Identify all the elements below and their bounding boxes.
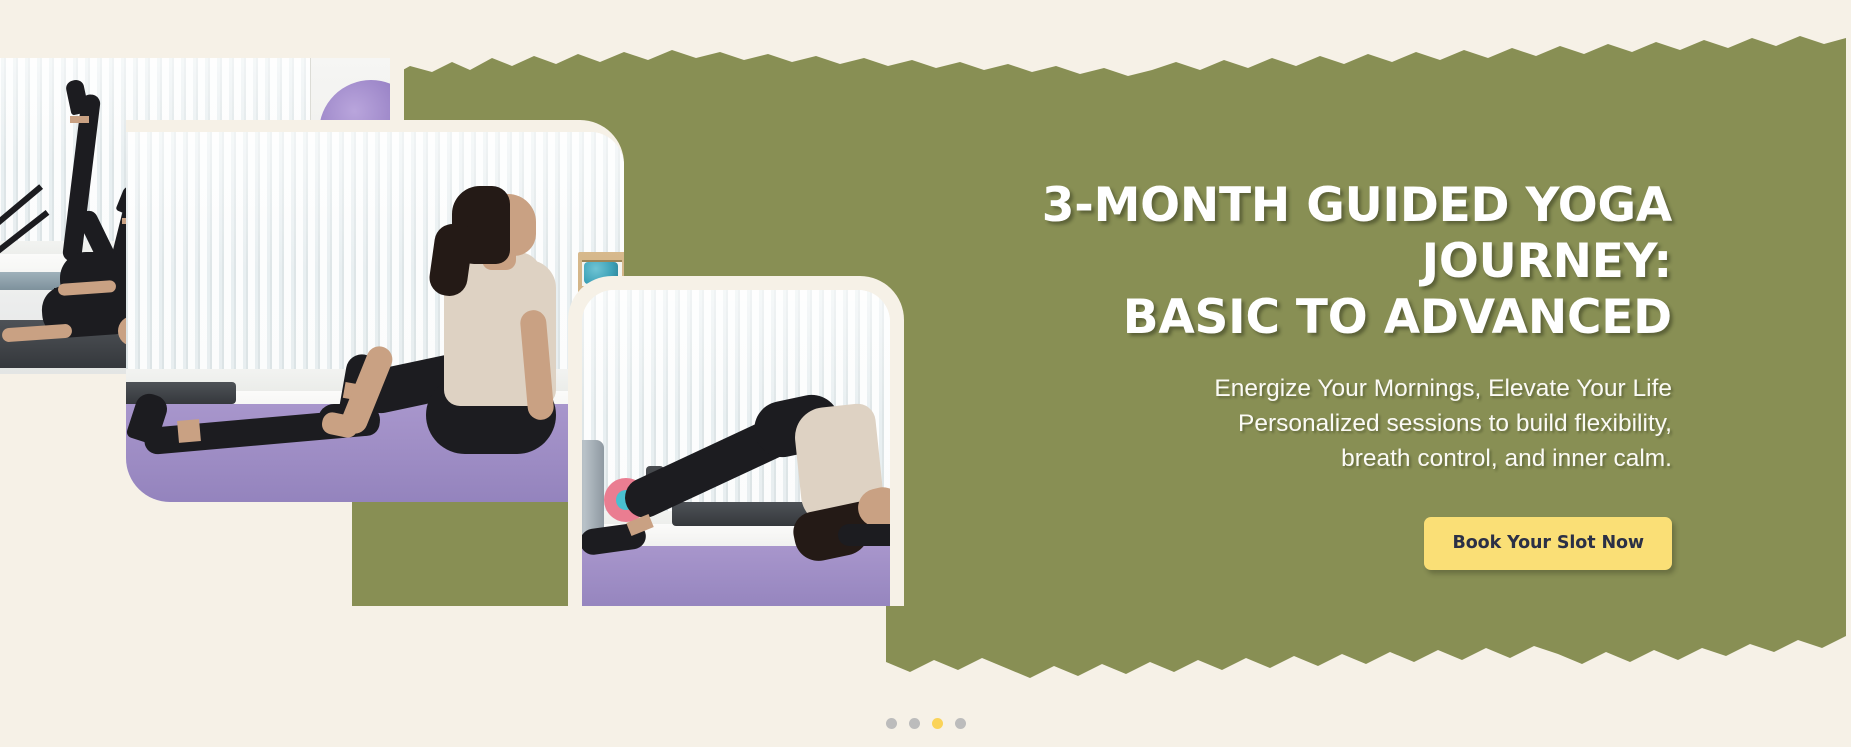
page-title: 3-MONTH GUIDED YOGA JOURNEY: BASIC TO AD… — [912, 178, 1672, 346]
photo-seated-twist — [126, 132, 624, 502]
carousel-dot-1[interactable] — [886, 718, 897, 729]
photo-dolphin-pose — [582, 290, 890, 606]
figure-shin-skin — [177, 419, 201, 443]
hero-copy-block: 3-MONTH GUIDED YOGA JOURNEY: BASIC TO AD… — [912, 178, 1672, 570]
hero-banner-slide: 3-MONTH GUIDED YOGA JOURNEY: BASIC TO AD… — [0, 0, 1851, 747]
photo-card-dolphin-pose — [568, 276, 904, 606]
carousel-dots — [0, 718, 1851, 729]
carousel-dot-2[interactable] — [909, 718, 920, 729]
figure-ankle-band — [70, 116, 89, 123]
right-edge-strip — [1846, 0, 1851, 747]
cta-row: Book Your Slot Now — [912, 517, 1672, 570]
photo-card-seated-twist — [126, 120, 624, 502]
carousel-dot-3[interactable] — [932, 718, 943, 729]
hero-subheadline: Energize Your Mornings, Elevate Your Lif… — [912, 371, 1672, 477]
figure-forearms — [838, 524, 890, 546]
carousel-dot-4[interactable] — [955, 718, 966, 729]
book-your-slot-button[interactable]: Book Your Slot Now — [1424, 517, 1672, 570]
